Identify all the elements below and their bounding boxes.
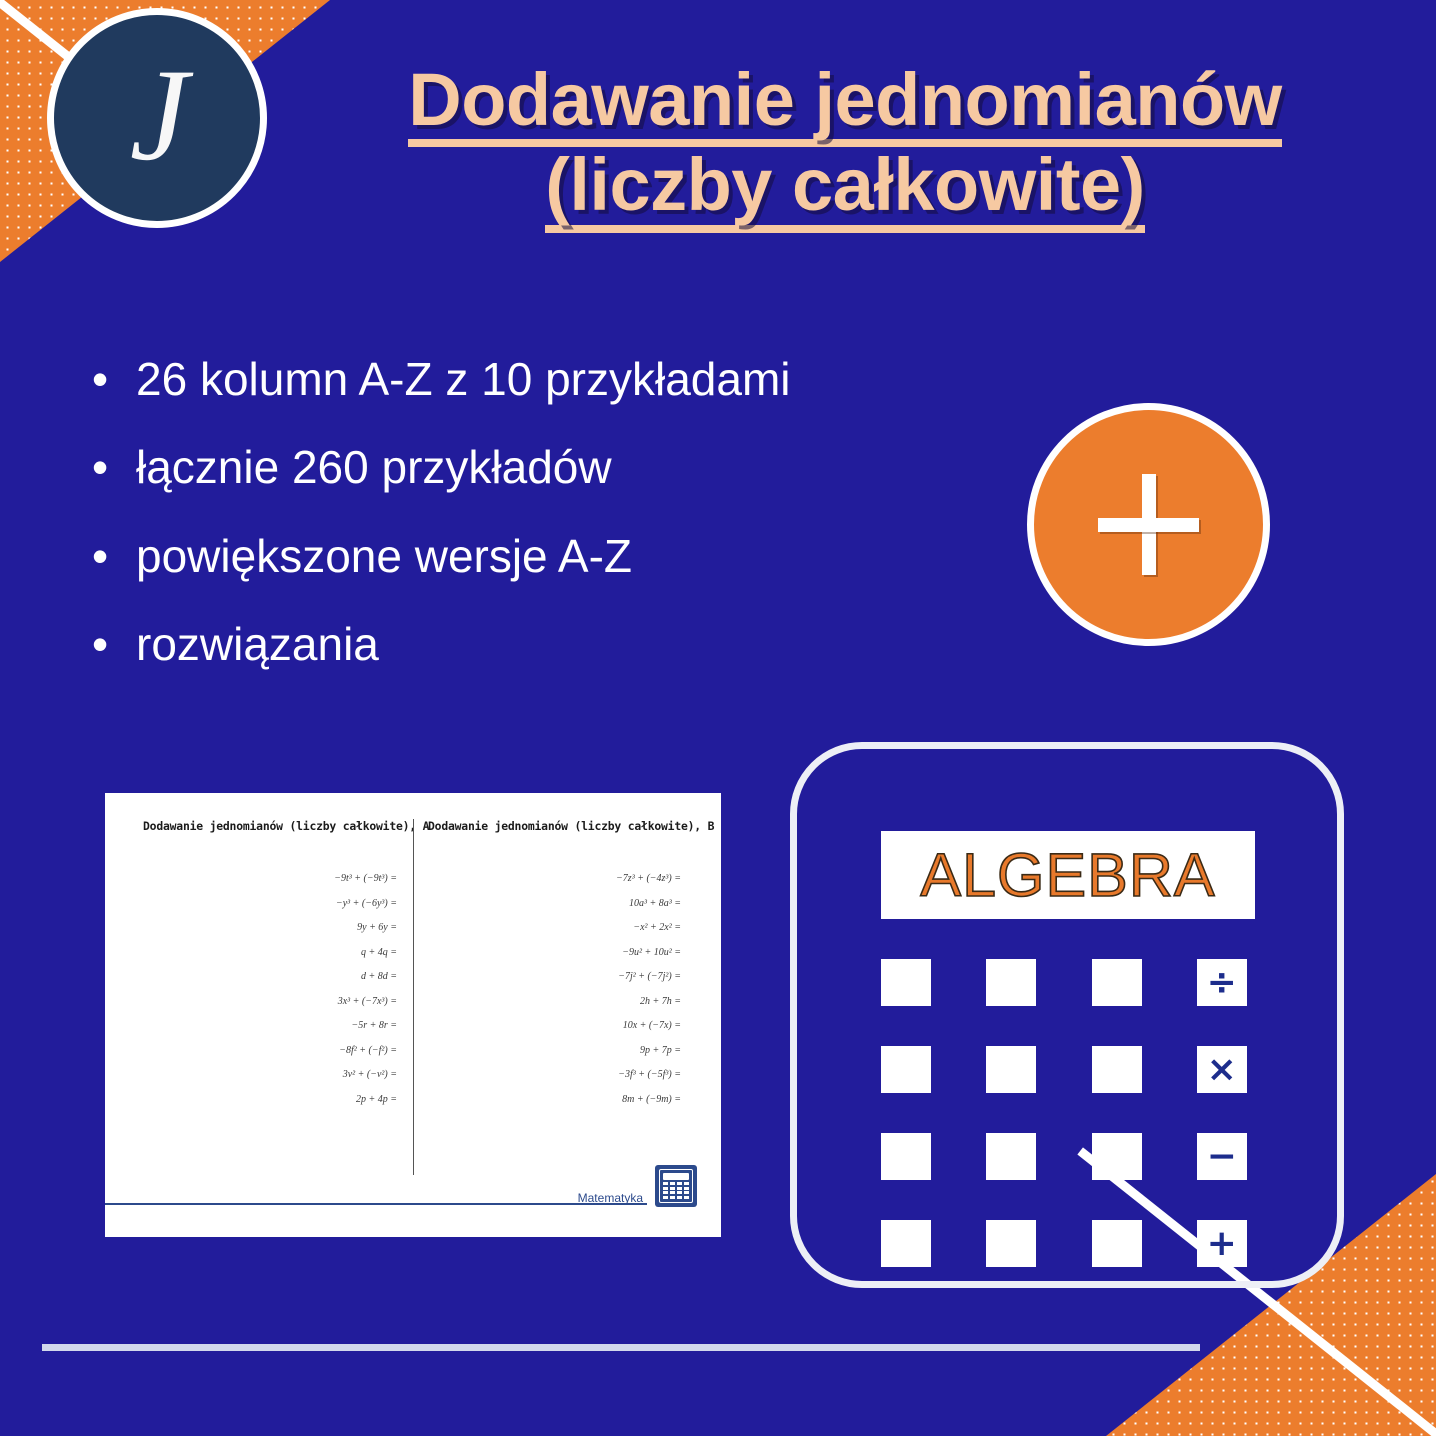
list-item-label: 26 kolumn A-Z z 10 przykładami [136, 352, 838, 406]
worksheet-equation: −7z³ + (−4z³) = [428, 873, 681, 884]
logo-letter: J [130, 49, 189, 181]
worksheet-equation: −9t³ + (−9t³) = [143, 873, 397, 884]
worksheet-equation: 9y + 6y = [143, 922, 397, 933]
worksheet-equation: 10a³ + 8a³ = [428, 898, 681, 909]
calculator-key-blank[interactable] [881, 1046, 931, 1093]
page-title-line-1: Dodawanie jednomianów [408, 62, 1282, 147]
worksheet-columns: Dodawanie jednomianów (liczby całkowite)… [129, 819, 697, 1175]
list-item: • łącznie 260 przykładów [78, 440, 838, 494]
worksheet-preview: Dodawanie jednomianów (liczby całkowite)… [105, 793, 721, 1237]
calculator-key-blank[interactable] [986, 959, 1036, 1006]
calculator-display: ALGEBRA [881, 831, 1255, 919]
calculator-keypad: ÷ × − + [881, 959, 1265, 1249]
worksheet-column-b-heading: Dodawanie jednomianów (liczby całkowite)… [428, 819, 681, 833]
list-item-label: powiększone wersje A-Z [136, 529, 838, 583]
calculator-key-blank[interactable] [881, 959, 931, 1006]
worksheet-equation: 8m + (−9m) = [428, 1094, 681, 1105]
calculator-key-minus[interactable]: − [1197, 1133, 1247, 1180]
calculator-key-blank[interactable] [1092, 959, 1142, 1006]
worksheet-equation: −8f² + (−f²) = [143, 1045, 397, 1056]
worksheet-equation: 2p + 4p = [143, 1094, 397, 1105]
slide-canvas: J Dodawanie jednomianów (liczby całkowit… [0, 0, 1436, 1436]
worksheet-column-a: Dodawanie jednomianów (liczby całkowite)… [129, 819, 413, 1175]
worksheet-equation: −3f³ + (−5f³) = [428, 1069, 681, 1080]
list-item: • rozwiązania [78, 617, 838, 671]
calculator-key-blank[interactable] [881, 1220, 931, 1267]
worksheet-equation: −7j² + (−7j²) = [428, 971, 681, 982]
list-item: • powiększone wersje A-Z [78, 529, 838, 583]
worksheet-equation: −x² + 2x² = [428, 922, 681, 933]
page-title-line-2: (liczby całkowite) [545, 147, 1145, 232]
calculator-key-blank[interactable] [1092, 1046, 1142, 1093]
worksheet-column-b: Dodawanie jednomianów (liczby całkowite)… [413, 819, 697, 1175]
calculator-key-multiply[interactable]: × [1197, 1046, 1247, 1093]
page-title: Dodawanie jednomianów (liczby całkowite) [300, 62, 1390, 233]
worksheet-equation: q + 4q = [143, 947, 397, 958]
worksheet-equation: 3v² + (−v²) = [143, 1069, 397, 1080]
bullet-icon: • [78, 352, 136, 406]
worksheet-equation: −9u² + 10u² = [428, 947, 681, 958]
calculator-key-blank[interactable] [986, 1220, 1036, 1267]
feature-list: • 26 kolumn A-Z z 10 przykładami • łączn… [78, 352, 838, 705]
worksheet-equation: d + 8d = [143, 971, 397, 982]
plus-icon-horizontal-bar [1098, 518, 1199, 532]
worksheet-equation: 9p + 7p = [428, 1045, 681, 1056]
calculator-key-blank[interactable] [1092, 1133, 1142, 1180]
calculator-key-blank[interactable] [881, 1133, 931, 1180]
calculator-graphic: ALGEBRA ÷ × − + [790, 742, 1344, 1288]
worksheet-footer: Matematyka [129, 1165, 697, 1207]
list-item-label: łącznie 260 przykładów [136, 440, 838, 494]
worksheet-equation: 3x³ + (−7x³) = [143, 996, 397, 1007]
brand-logo: J [47, 8, 267, 228]
calculator-key-blank[interactable] [1092, 1220, 1142, 1267]
list-item: • 26 kolumn A-Z z 10 przykładami [78, 352, 838, 406]
calculator-key-plus[interactable]: + [1197, 1220, 1247, 1267]
plus-icon [1027, 403, 1270, 646]
bullet-icon: • [78, 529, 136, 583]
worksheet-equation: 2h + 7h = [428, 996, 681, 1007]
worksheet-column-a-heading: Dodawanie jednomianów (liczby całkowite)… [143, 819, 397, 833]
calculator-key-blank[interactable] [986, 1046, 1036, 1093]
calculator-key-blank[interactable] [986, 1133, 1036, 1180]
worksheet-footer-label: Matematyka [578, 1191, 643, 1205]
bottom-divider [42, 1344, 1200, 1351]
calculator-display-text: ALGEBRA [920, 840, 1215, 910]
bullet-icon: • [78, 617, 136, 671]
list-item-label: rozwiązania [136, 617, 838, 671]
calculator-key-divide[interactable]: ÷ [1197, 959, 1247, 1006]
worksheet-equation: −5r + 8r = [143, 1020, 397, 1031]
worksheet-equation: 10x + (−7x) = [428, 1020, 681, 1031]
worksheet-equation: −y³ + (−6y³) = [143, 898, 397, 909]
calculator-icon [655, 1165, 697, 1207]
bullet-icon: • [78, 440, 136, 494]
